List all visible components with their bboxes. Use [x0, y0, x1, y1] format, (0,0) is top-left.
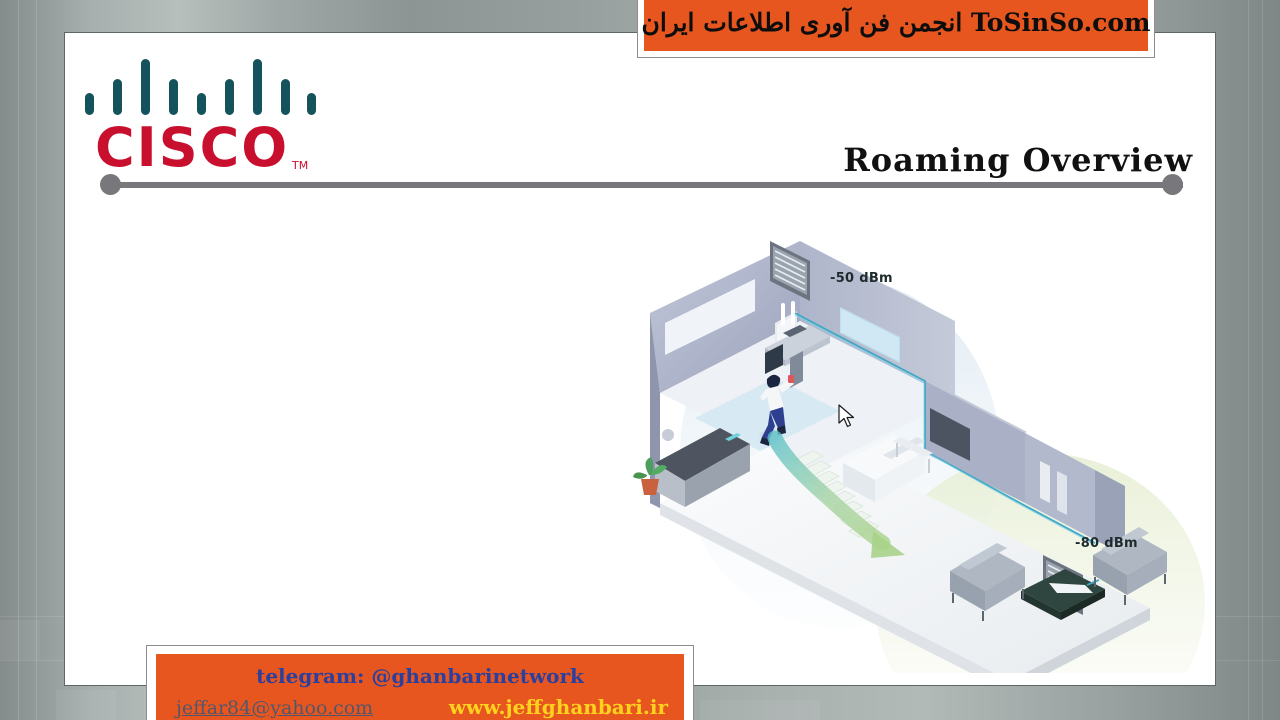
trademark-symbol: TM	[292, 159, 308, 172]
cisco-wordmark: CISCO	[95, 121, 289, 175]
mouse-cursor	[838, 404, 856, 430]
top-banner-fill: ToSinSo.com انجمن فن آوری اطلاعات ایران	[644, 0, 1148, 51]
website-link[interactable]: www.jeffghanbari.ir	[449, 695, 668, 719]
signal-label-near: -50 dBm	[830, 271, 893, 286]
divider-dot-right	[1162, 174, 1183, 195]
cisco-logo: CISCO TM	[77, 47, 327, 187]
email-link[interactable]: jeffar84@yahoo.com	[176, 697, 373, 719]
page-title: Roaming Overview	[843, 141, 1193, 179]
top-banner-text: ToSinSo.com انجمن فن آوری اطلاعات ایران	[642, 8, 1151, 37]
title-divider	[111, 182, 1183, 188]
divider-dot-left	[100, 174, 121, 195]
roaming-illustration: -50 dBm -80 dBm	[625, 203, 1205, 673]
bottom-banner-fill: telegram: @ghanbarinetwork jeffar84@yaho…	[156, 654, 684, 720]
bottom-contact-banner: telegram: @ghanbarinetwork jeffar84@yaho…	[146, 645, 694, 720]
top-watermark-banner: ToSinSo.com انجمن فن آوری اطلاعات ایران	[637, 0, 1155, 58]
signal-label-far: -80 dBm	[1075, 536, 1138, 551]
screen: CISCO TM Roaming Overview	[0, 0, 1280, 720]
telegram-handle[interactable]: telegram: @ghanbarinetwork	[156, 664, 684, 688]
presentation-slide: CISCO TM Roaming Overview	[64, 32, 1216, 686]
cisco-bridge-icon	[85, 55, 317, 115]
